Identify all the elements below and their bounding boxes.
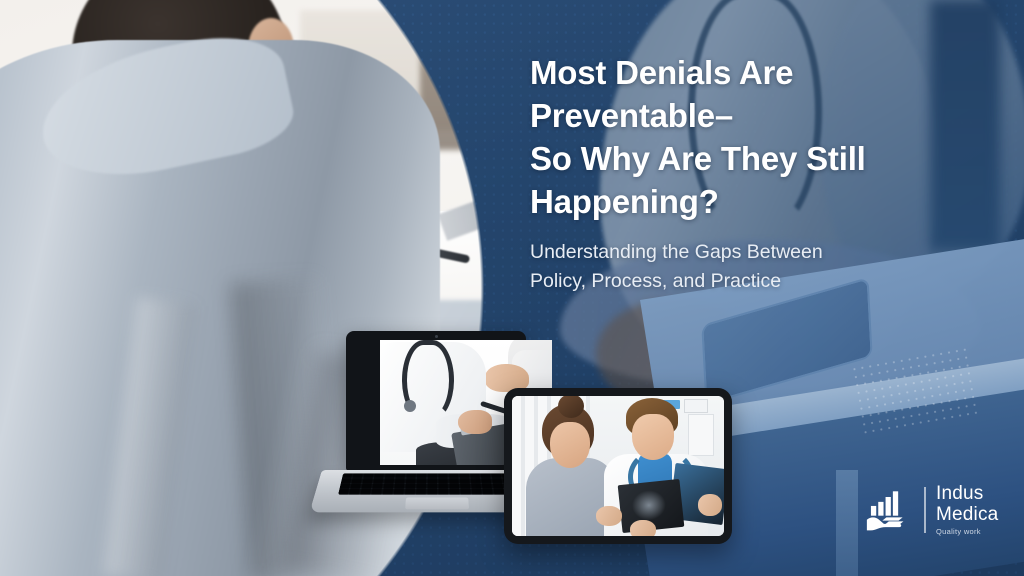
tablet-device (504, 388, 732, 544)
laptop-camera-icon (435, 335, 438, 338)
brand-logo[interactable]: Indus Medica Quality work (862, 484, 998, 536)
headline-line-1: Most Denials Are (530, 54, 793, 91)
hand-holding-bar-chart-icon (862, 484, 914, 536)
logo-wordmark: Indus Medica Quality work (936, 484, 998, 536)
doctor-hand-right (698, 494, 722, 516)
promo-banner: Most Denials Are Preventable– So Why Are… (0, 0, 1024, 576)
headline-line-3: So Why Are They Still (530, 140, 866, 177)
logo-name-line-1: Indus (936, 484, 998, 503)
subhead-line-1: Understanding the Gaps Between (530, 241, 823, 263)
laptop-lid (346, 331, 526, 471)
page-subtitle: Understanding the Gaps Between Policy, P… (530, 238, 950, 297)
headline-line-4: Happening? (530, 183, 719, 220)
subhead-line-2: Policy, Process, and Practice (530, 270, 781, 292)
logo-name-line-2: Medica (936, 505, 998, 524)
tablet-screen (512, 396, 724, 536)
doctor-hand-writing (458, 410, 492, 434)
patient-face (550, 422, 590, 468)
stethoscope-bell (404, 400, 416, 412)
copy-block: Most Denials Are Preventable– So Why Are… (530, 52, 950, 297)
doctor-hand-left (630, 520, 656, 536)
laptop-device (316, 331, 526, 546)
logo-divider (924, 487, 926, 533)
wall-poster-small (684, 399, 708, 413)
page-title: Most Denials Are Preventable– So Why Are… (530, 52, 950, 224)
logo-tagline: Quality work (936, 528, 998, 536)
patient-hand (596, 506, 622, 526)
desk-leg (836, 470, 858, 576)
laptop-trackpad (405, 498, 469, 510)
headline-line-2: Preventable– (530, 97, 733, 134)
wall-chart (688, 414, 714, 456)
